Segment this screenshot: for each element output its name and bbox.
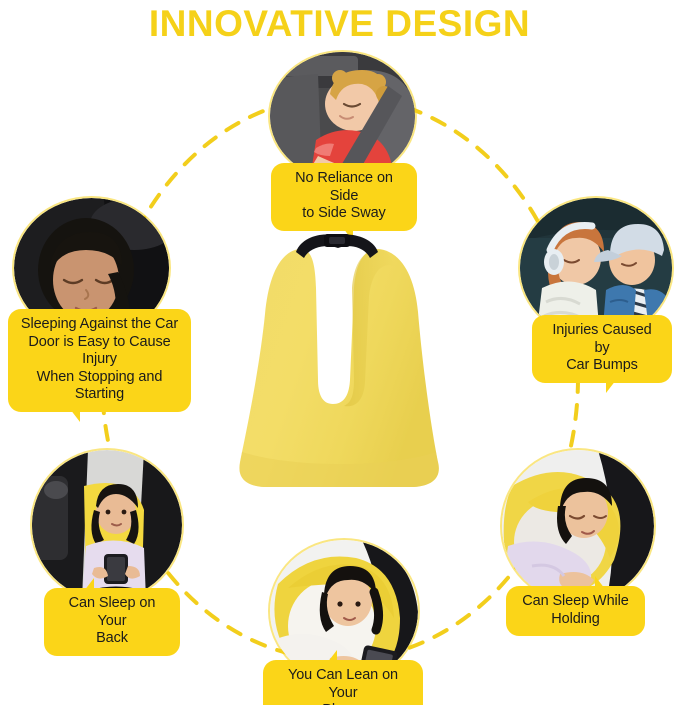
photo-sleep-while-holding <box>502 450 654 602</box>
label-no-sway-line2: to Side Sway <box>302 205 385 221</box>
label-sleep-on-back-line2: Back <box>96 630 128 646</box>
label-car-bumps: Injuries Caused by Car Bumps <box>532 315 672 383</box>
badge-tail-icon <box>606 380 616 393</box>
badge-tail-icon <box>70 409 80 422</box>
badge-tail-icon <box>327 650 337 663</box>
label-no-sway-line1: No Reliance on Side <box>295 170 393 204</box>
photo-sleep-on-back <box>32 450 182 600</box>
label-sleep-while-holding-line2: Holding <box>551 611 599 627</box>
badge-tail-icon <box>84 578 94 591</box>
label-car-bumps-line2: Car Bumps <box>566 357 638 373</box>
label-lean-on-phone: You Can Lean on Your Phone <box>263 660 423 705</box>
label-car-door-injury-line1: Sleeping Against the Car <box>21 316 178 332</box>
label-sleep-while-holding: Can Sleep While Holding <box>506 586 645 636</box>
label-sleep-on-back-line1: Can Sleep on Your <box>69 595 156 629</box>
label-sleep-while-holding-line1: Can Sleep While <box>522 593 629 609</box>
label-car-bumps-line1: Injuries Caused by <box>552 322 651 356</box>
infographic-canvas: INNOVATIVE DESIGN <box>0 0 679 705</box>
label-lean-on-phone-line1: You Can Lean on Your <box>288 667 398 701</box>
label-car-door-injury-line2: Door is Easy to Cause Injury <box>28 334 170 368</box>
label-sleep-on-back: Can Sleep on Your Back <box>44 588 180 656</box>
photo-sleep-on-back-art <box>32 450 182 600</box>
product-pillow-art <box>232 232 447 490</box>
photo-no-sway <box>270 52 415 180</box>
badge-tail-icon <box>595 576 605 589</box>
label-no-sway: No Reliance on Side to Side Sway <box>271 163 417 231</box>
photo-no-sway-art <box>270 52 415 180</box>
photo-sleep-while-holding-art <box>502 450 654 602</box>
page-title: INNOVATIVE DESIGN <box>0 2 679 46</box>
label-car-door-injury: Sleeping Against the Car Door is Easy to… <box>8 309 191 412</box>
label-car-door-injury-line3: When Stopping and Starting <box>37 369 163 403</box>
product-pillow <box>232 232 447 490</box>
